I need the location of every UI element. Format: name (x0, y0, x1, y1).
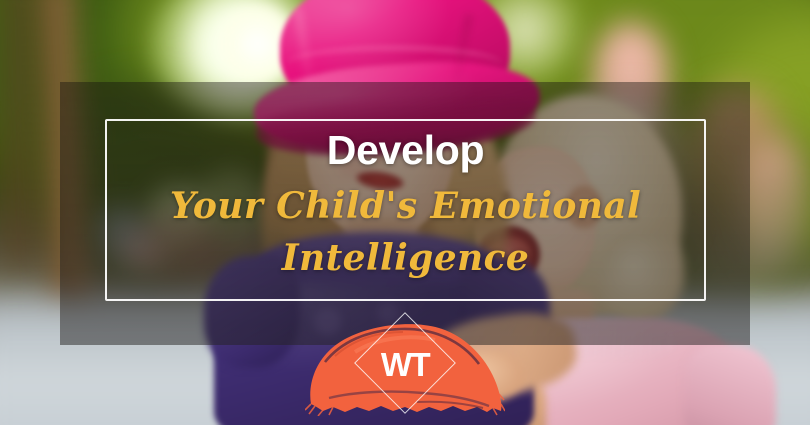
logo-badge[interactable]: WT (305, 318, 505, 416)
headline-line-3: Intelligence (282, 240, 529, 276)
background-person-blur (742, 140, 808, 270)
headline-line-1: Develop (327, 130, 484, 171)
girl-pink-hat-seam (286, 46, 502, 82)
logo-monogram: WT (305, 348, 505, 381)
headline-line-2: Your Child's Emotional (170, 188, 641, 224)
headline-block: Develop Your Child's Emotional Intellige… (105, 122, 706, 298)
featured-image-canvas: Develop Your Child's Emotional Intellige… (0, 0, 810, 425)
toddler-sleeve (684, 344, 776, 425)
